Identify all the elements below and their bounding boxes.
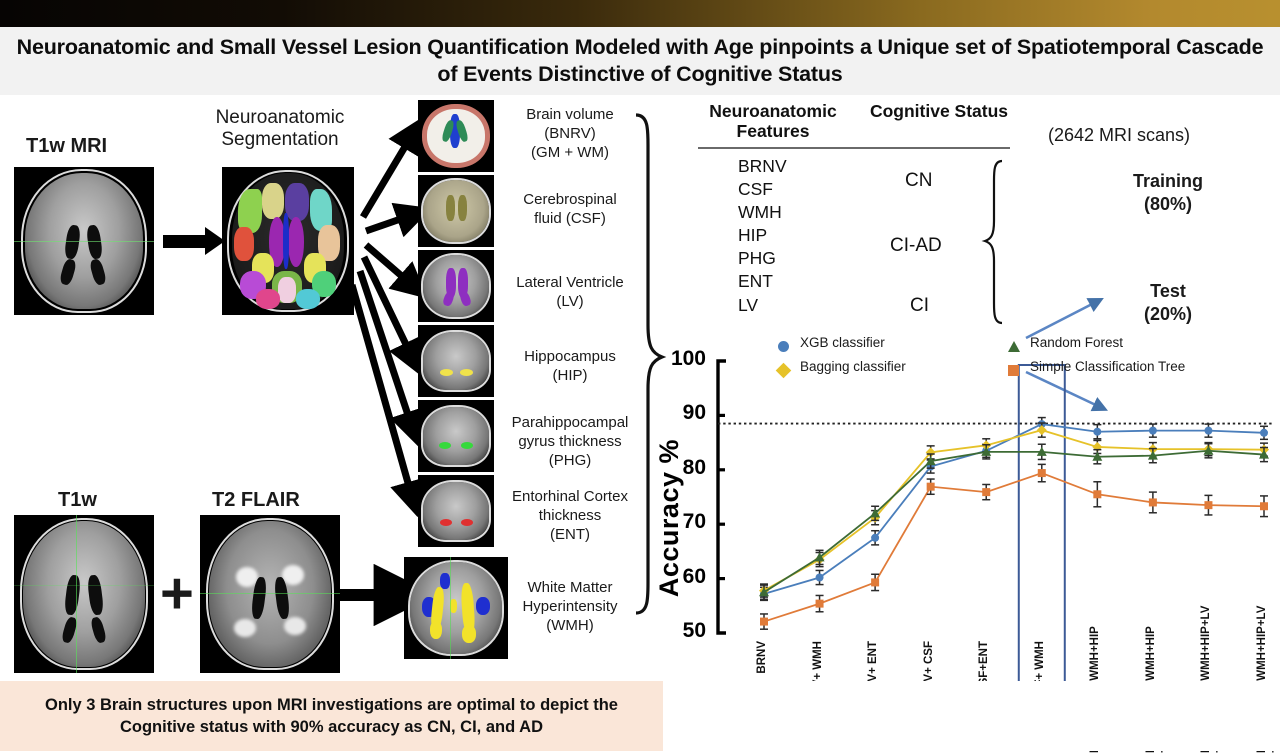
structure-label-brain-volume: Brain volume (BNRV) (GM + WM) bbox=[500, 105, 640, 163]
plus-sign: + bbox=[160, 565, 194, 623]
feature-item: PHG bbox=[738, 247, 787, 270]
data-point bbox=[1260, 502, 1268, 510]
split-test-pct: (20%) bbox=[1114, 303, 1222, 326]
structure-line: (PHG) bbox=[494, 451, 646, 470]
data-point bbox=[1204, 501, 1212, 509]
data-point bbox=[760, 618, 768, 626]
thumb-lateral-ventricle bbox=[418, 250, 494, 322]
data-point bbox=[1149, 498, 1157, 506]
structure-line: Cerebrospinal bbox=[500, 190, 640, 209]
data-point bbox=[816, 600, 824, 608]
thumb-wmh bbox=[404, 557, 508, 659]
structure-line: White Matter bbox=[500, 578, 640, 597]
arrow-to-training bbox=[1026, 302, 1096, 338]
structure-line: (BNRV) bbox=[500, 124, 640, 143]
decorative-gradient-bar bbox=[0, 0, 1280, 27]
structure-line: Hyperintensity bbox=[500, 597, 640, 616]
structure-line: Entorhinal Cortex bbox=[494, 487, 646, 506]
thumb-phg bbox=[418, 400, 494, 472]
conclusion-callout: Only 3 Brain structures upon MRI investi… bbox=[0, 681, 663, 751]
legend-label: Simple Classification Tree bbox=[1030, 359, 1185, 374]
data-point bbox=[1093, 490, 1101, 498]
segmentation-image bbox=[222, 167, 354, 315]
y-axis-spine bbox=[718, 361, 726, 633]
data-point bbox=[816, 574, 824, 582]
data-point bbox=[982, 488, 990, 496]
structure-line: fluid (CSF) bbox=[500, 209, 640, 228]
structure-line: (HIP) bbox=[500, 366, 640, 385]
structure-line: (ENT) bbox=[494, 525, 646, 544]
split-test: Test (20%) bbox=[1114, 280, 1222, 325]
structure-line: (LV) bbox=[494, 292, 646, 311]
data-point bbox=[927, 483, 935, 491]
legend-label: Bagging classifier bbox=[800, 359, 906, 374]
structure-line: (GM + WM) bbox=[500, 143, 640, 162]
series-xgb-classifier bbox=[760, 418, 1268, 601]
status-item-cn: CN bbox=[905, 170, 932, 192]
status-item-ci: CI bbox=[910, 295, 929, 317]
t2-flair-image bbox=[200, 515, 340, 673]
table-header-features: Neuroanatomic Features bbox=[690, 101, 856, 141]
split-training-label: Training bbox=[1114, 170, 1222, 193]
title-band: Neuroanatomic and Small Vessel Lesion Qu… bbox=[0, 27, 1280, 95]
feature-item: BRNV bbox=[738, 155, 787, 178]
scans-note: (2642 MRI scans) bbox=[1048, 125, 1190, 146]
split-test-label: Test bbox=[1114, 280, 1222, 303]
structure-line: Hippocampus bbox=[500, 347, 640, 366]
arrow-t1w-to-segmentation bbox=[163, 235, 207, 248]
structure-line: gyrus thickness bbox=[494, 432, 646, 451]
legend-label: Random Forest bbox=[1030, 335, 1123, 350]
data-point bbox=[871, 534, 879, 542]
structure-label-wmh: White Matter Hyperintensity (WMH) bbox=[500, 578, 640, 636]
structure-label-ent: Entorhinal Cortex thickness (ENT) bbox=[494, 487, 646, 545]
t1w-label: T1w bbox=[58, 489, 97, 512]
structure-label-lateral-ventricle: Lateral Ventricle (LV) bbox=[494, 273, 646, 311]
feature-item: ENT bbox=[738, 270, 787, 293]
t1w-mri-label: T1w MRI bbox=[26, 135, 107, 158]
table-header-status: Cognitive Status bbox=[868, 101, 1010, 121]
data-point bbox=[1093, 428, 1101, 436]
data-point bbox=[871, 578, 879, 586]
data-point bbox=[1204, 427, 1212, 435]
legend-label: XGB classifier bbox=[800, 335, 885, 350]
structure-label-hippocampus: Hippocampus (HIP) bbox=[500, 347, 640, 385]
data-point bbox=[1260, 429, 1268, 437]
status-item-ci-ad: CI-AD bbox=[890, 235, 942, 257]
feature-item: WMH bbox=[738, 201, 787, 224]
structure-line: thickness bbox=[494, 506, 646, 525]
t2-flair-label: T2 FLAIR bbox=[212, 489, 300, 512]
conclusion-text: Only 3 Brain structures upon MRI investi… bbox=[0, 694, 663, 739]
table-rule bbox=[698, 147, 1010, 149]
legend-marker-triangle bbox=[1008, 341, 1020, 352]
data-point bbox=[1149, 427, 1157, 435]
feature-list: BRNV CSF WMH HIP PHG ENT LV bbox=[738, 155, 787, 317]
t1w-image bbox=[14, 515, 154, 673]
feature-item: CSF bbox=[738, 178, 787, 201]
series-random-forest bbox=[759, 444, 1269, 600]
structure-label-phg: Parahippocampal gyrus thickness (PHG) bbox=[494, 413, 646, 471]
structure-line: Lateral Ventricle bbox=[494, 273, 646, 292]
caption-band: Only 3 Brain structures upon MRI investi… bbox=[0, 681, 1280, 751]
segmentation-label: Neuroanatomic Segmentation bbox=[200, 107, 360, 152]
split-training-pct: (80%) bbox=[1114, 193, 1222, 216]
series-bagging-classifier bbox=[759, 423, 1269, 597]
thumb-csf bbox=[418, 175, 494, 247]
data-point bbox=[1038, 469, 1046, 477]
thumb-hippocampus bbox=[418, 325, 494, 397]
structure-line: Parahippocampal bbox=[494, 413, 646, 432]
structure-line: (WMH) bbox=[500, 616, 640, 635]
t1w-mri-image bbox=[14, 167, 154, 315]
feature-item: HIP bbox=[738, 224, 787, 247]
figure-canvas: T1w MRI Neuroanatomic Segmentation bbox=[0, 95, 1280, 681]
page-title: Neuroanatomic and Small Vessel Lesion Qu… bbox=[0, 34, 1280, 89]
features-table: Neuroanatomic Features Cognitive Status … bbox=[690, 95, 1020, 345]
thumb-ent bbox=[418, 475, 494, 547]
thumb-brain-volume bbox=[418, 100, 494, 172]
legend-marker-circle bbox=[778, 341, 789, 352]
x-axis-category: BRNV bbox=[756, 641, 768, 674]
structure-line: Brain volume bbox=[500, 105, 640, 124]
split-training: Training (80%) bbox=[1114, 170, 1222, 215]
legend-marker-square bbox=[1008, 365, 1019, 376]
segmentation-label-text: Neuroanatomic Segmentation bbox=[216, 107, 345, 150]
structure-label-csf: Cerebrospinal fluid (CSF) bbox=[500, 190, 640, 228]
feature-item: LV bbox=[738, 294, 787, 317]
